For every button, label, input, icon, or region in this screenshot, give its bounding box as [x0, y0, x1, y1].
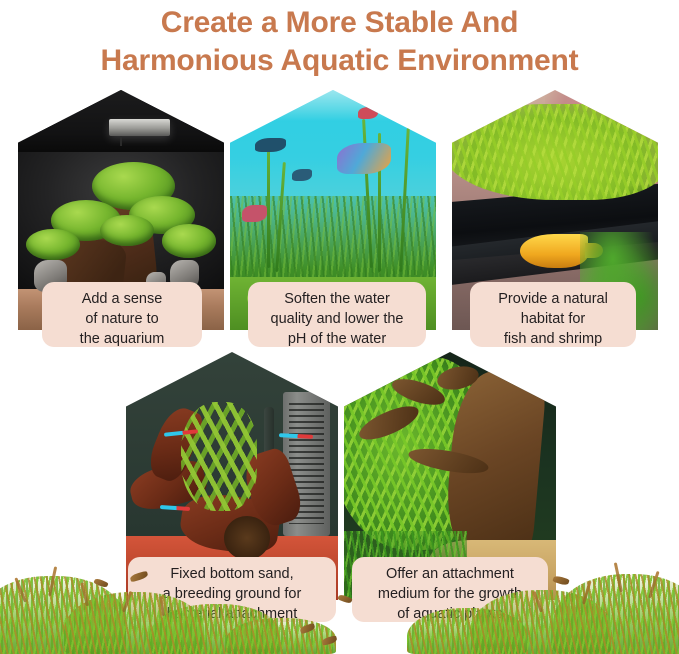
floating-seed-1: [299, 623, 315, 634]
panel-5-caption: Offer an attachment medium for the growt…: [352, 557, 548, 622]
page-title-line-2: Harmonious Aquatic Environment: [0, 42, 679, 80]
panel-2-caption: Soften the water quality and lower the p…: [248, 282, 426, 347]
panel-4-caption: Fixed bottom sand, a breeding ground for…: [128, 557, 336, 622]
panel-3-caption: Provide a natural habitat for fish and s…: [470, 282, 636, 347]
bottom-aquatic-plant-band: [0, 562, 679, 654]
fish-yellow: [520, 234, 588, 268]
panel-1-caption: Add a sense of nature to the aquarium: [42, 282, 202, 347]
fish-red: [242, 205, 267, 222]
page-title-line-1: Create a More Stable And: [0, 4, 679, 42]
fish-rainbow: [337, 143, 391, 174]
page-title: Create a More Stable And Harmonious Aqua…: [0, 0, 679, 80]
floating-seed-2: [321, 635, 337, 645]
fish-red-top: [358, 107, 379, 119]
